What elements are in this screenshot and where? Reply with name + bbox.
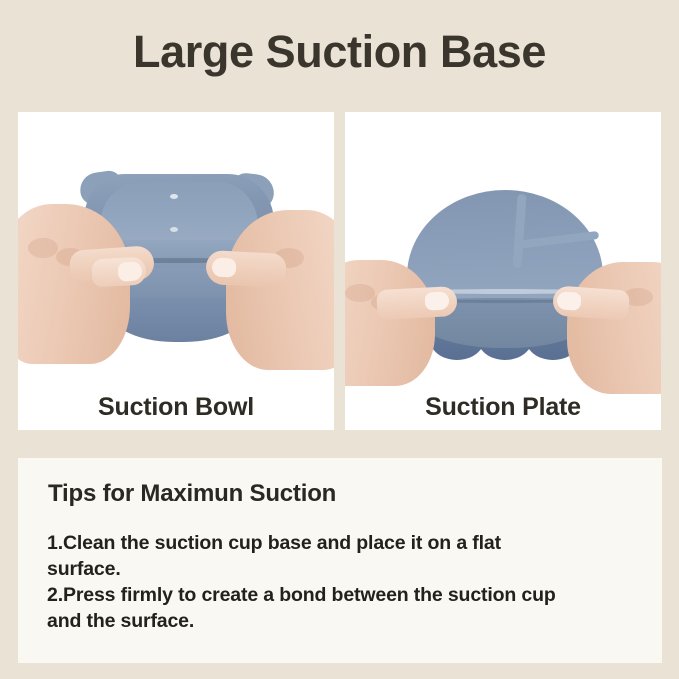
product-photo-card-bowl: Suction Bowl [18, 112, 334, 430]
right-hand-thumbnail [212, 257, 237, 277]
tips-card: Tips for Maximun Suction 1.Clean the suc… [18, 458, 662, 663]
tips-body: 1.Clean the suction cup base and place i… [47, 530, 639, 634]
tips-line: 2.Press firmly to create a bond between … [47, 582, 639, 608]
right-hand [567, 262, 661, 394]
product-photo-bowl [18, 112, 334, 430]
knuckle-shadow [28, 238, 58, 258]
tips-line: and the surface. [47, 608, 639, 634]
product-photo-card-plate: Suction Plate [345, 112, 661, 430]
page-title: Large Suction Base [0, 26, 679, 78]
product-infographic: Large Suction Base [0, 0, 679, 679]
caption-suction-plate: Suction Plate [345, 393, 661, 422]
product-photo-plate [345, 112, 661, 430]
right-hand-thumbnail [556, 291, 581, 311]
bowl-specular-highlight-lower [170, 227, 178, 232]
left-hand-thumbnail [425, 291, 450, 310]
right-hand [226, 210, 334, 370]
bowl-specular-highlight-upper [170, 194, 178, 199]
plate-main-compartment [417, 198, 513, 290]
caption-suction-bowl: Suction Bowl [18, 393, 334, 422]
tips-heading: Tips for Maximun Suction [48, 480, 336, 508]
tips-line: surface. [47, 556, 639, 582]
tips-line: 1.Clean the suction cup base and place i… [47, 530, 639, 556]
